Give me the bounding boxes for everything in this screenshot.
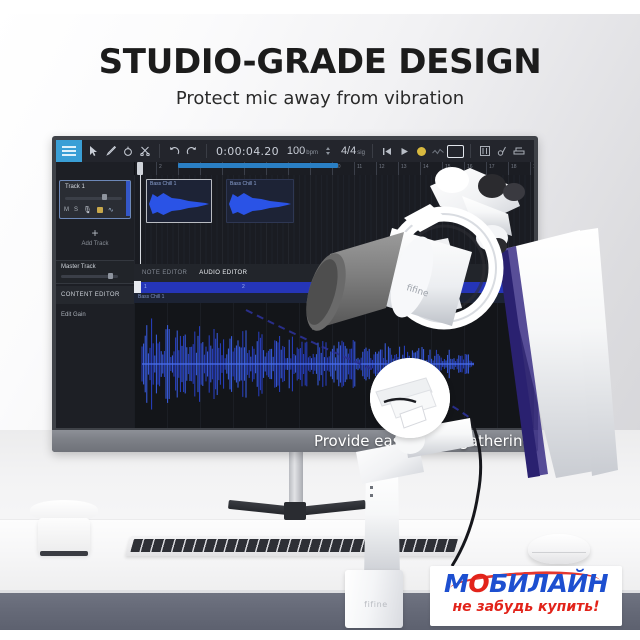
logo-prefix: М bbox=[444, 569, 468, 598]
editor-tabs: NOTE EDITOR AUDIO EDITOR bbox=[134, 264, 534, 282]
edit-gain-item[interactable]: Edit Gain bbox=[61, 312, 86, 318]
cable-clip-graphic bbox=[370, 358, 450, 438]
track-buttons: M S 🎙 ∿ bbox=[64, 206, 114, 214]
scissors-tool-icon[interactable] bbox=[136, 140, 153, 162]
export-icon[interactable] bbox=[511, 140, 528, 162]
ruler-number: 13 bbox=[401, 164, 407, 170]
playhead-handle[interactable] bbox=[137, 162, 143, 175]
ruler-number: 17 bbox=[489, 164, 495, 170]
master-volume-knob[interactable] bbox=[108, 273, 113, 279]
history-group bbox=[163, 140, 203, 162]
undo-icon[interactable] bbox=[166, 140, 183, 162]
track-panel: Track 1 M S 🎙 ∿ + Add Track bbox=[56, 162, 135, 428]
transport-group bbox=[376, 140, 467, 162]
logo-wordmark: МОБИЛАЙН bbox=[430, 570, 622, 598]
audio-clip[interactable]: Bass Chill 1 bbox=[146, 179, 212, 223]
time-signature-unit: sig bbox=[357, 150, 365, 156]
ruler-number: 16 bbox=[467, 164, 473, 170]
keyboard-keys[interactable] bbox=[130, 539, 458, 552]
arrangement-area[interactable]: Bass Chill 1Bass Chill 1 bbox=[134, 175, 534, 264]
audio-clip-title: Bass Chill 1 bbox=[150, 181, 176, 187]
track-volume-slider[interactable] bbox=[65, 197, 122, 200]
toolbar-divider bbox=[206, 144, 207, 158]
editor-timeline-mark: 3.1 bbox=[340, 284, 347, 290]
tempo-unit: bpm bbox=[306, 150, 318, 156]
metronome-icon[interactable] bbox=[430, 140, 447, 162]
audio-editor-waveform[interactable] bbox=[134, 303, 534, 428]
watermark-logo: МОБИЛАЙН не забудь купить! bbox=[430, 566, 622, 626]
desk-clamp bbox=[345, 570, 403, 628]
time-signature-value: 4/4 bbox=[341, 145, 356, 157]
ruler-number: 12 bbox=[379, 164, 385, 170]
logo-tagline: не забудь купить! bbox=[430, 599, 622, 615]
tab-audio-editor[interactable]: AUDIO EDITOR bbox=[199, 270, 247, 276]
ruler-number: 11 bbox=[357, 164, 362, 170]
loop-region-bar[interactable] bbox=[178, 163, 338, 168]
content-editor-header[interactable]: CONTENT EDITOR bbox=[56, 286, 134, 304]
mixer-icon[interactable] bbox=[477, 140, 494, 162]
master-track-row[interactable]: Master Track bbox=[56, 260, 134, 284]
tempo-value: 100 bbox=[287, 145, 305, 157]
clamp-brand-label: fifine bbox=[352, 600, 400, 609]
tempo-stepper-icon[interactable] bbox=[320, 140, 337, 162]
hamburger-menu-icon[interactable] bbox=[56, 140, 82, 162]
solo-button[interactable]: S bbox=[74, 207, 78, 213]
editor-timeline-mark: 4.1 bbox=[438, 284, 445, 290]
record-icon[interactable] bbox=[413, 140, 430, 162]
cable-clip-detail-inset bbox=[370, 358, 450, 438]
editor-timeline-mark: 1 bbox=[144, 284, 147, 290]
track-volume-knob[interactable] bbox=[102, 194, 107, 200]
automation-icon[interactable]: ∿ bbox=[108, 206, 114, 214]
redo-icon[interactable] bbox=[183, 140, 200, 162]
right-tool-group bbox=[474, 140, 531, 162]
pencil-tool-icon[interactable] bbox=[102, 140, 119, 162]
add-track-label: Add Track bbox=[56, 241, 134, 247]
transport-time-display[interactable]: 0:00:04.20 bbox=[210, 145, 285, 158]
tab-note-editor[interactable]: NOTE EDITOR bbox=[142, 270, 187, 276]
loop-tool-icon[interactable] bbox=[119, 140, 136, 162]
waveform-graphic bbox=[134, 309, 534, 419]
rewind-to-start-icon[interactable] bbox=[379, 140, 396, 162]
headline: STUDIO-GRADE DESIGN bbox=[0, 42, 640, 82]
mute-button[interactable]: M bbox=[64, 207, 69, 213]
content-editor-label: CONTENT EDITOR bbox=[56, 292, 120, 298]
timeline-ruler[interactable]: 12345678910111213141516171819202122 bbox=[134, 162, 534, 176]
clip-waveform bbox=[149, 190, 209, 218]
track-selected-indicator bbox=[126, 181, 130, 216]
ruler-number: 19 bbox=[533, 164, 534, 170]
computer-mouse[interactable] bbox=[528, 534, 590, 564]
monitor-bottom-bezel bbox=[52, 430, 538, 452]
frame-edge-top bbox=[0, 0, 640, 14]
audio-clip-title: Bass Chill 1 bbox=[230, 181, 256, 187]
monitor: 0:00:04.20 100bpm 4/4sig bbox=[52, 136, 538, 452]
logo-suffix: БИЛАЙН bbox=[489, 569, 608, 598]
audio-clip[interactable]: Bass Chill 1 bbox=[226, 179, 294, 223]
ruler-number: 18 bbox=[511, 164, 517, 170]
toolbar-divider bbox=[372, 144, 373, 158]
clip-waveform bbox=[229, 190, 291, 218]
keyboard[interactable] bbox=[125, 536, 463, 556]
ruler-number: 15 bbox=[445, 164, 451, 170]
tool-group bbox=[82, 140, 156, 162]
play-icon[interactable] bbox=[396, 140, 413, 162]
subheadline: Protect mic away from vibration bbox=[0, 88, 640, 109]
monitor-stand-hub bbox=[284, 502, 306, 520]
mouse-seam bbox=[532, 552, 586, 553]
instrument-pad-icon[interactable] bbox=[97, 207, 103, 213]
frame-edge-bottom bbox=[0, 630, 640, 640]
track-row[interactable]: Track 1 M S 🎙 ∿ bbox=[59, 180, 131, 219]
pointer-tool-icon[interactable] bbox=[85, 140, 102, 162]
track-name: Track 1 bbox=[65, 184, 85, 190]
editor-timeline-strip[interactable]: 123.14.1 bbox=[134, 282, 534, 293]
logo-accent-letter: О bbox=[468, 569, 489, 598]
promo-image: STUDIO-GRADE DESIGN Protect mic away fro… bbox=[0, 0, 640, 640]
daw-toolbar: 0:00:04.20 100bpm 4/4sig bbox=[56, 140, 534, 163]
instrument-icon[interactable] bbox=[494, 140, 511, 162]
editor-clip-title: Bass Chill 1 bbox=[138, 294, 164, 300]
desk-speaker bbox=[38, 518, 90, 554]
playhead[interactable] bbox=[140, 175, 141, 264]
ruler-number: 2 bbox=[159, 164, 162, 170]
desk-speaker-base bbox=[40, 551, 88, 556]
ruler-number: 14 bbox=[423, 164, 429, 170]
plus-icon: + bbox=[56, 226, 134, 240]
time-signature-display[interactable]: 4/4sig bbox=[337, 145, 369, 157]
master-track-label: Master Track bbox=[61, 264, 96, 270]
tempo-display[interactable]: 100bpm bbox=[285, 145, 320, 157]
microphone-icon[interactable]: 🎙 bbox=[83, 206, 92, 214]
toolbar-divider bbox=[470, 144, 471, 158]
toolbar-divider bbox=[159, 144, 160, 158]
add-track-button[interactable]: + Add Track bbox=[56, 226, 134, 247]
editor-timeline-mark: 2 bbox=[242, 284, 245, 290]
loop-toggle-icon[interactable] bbox=[447, 140, 464, 162]
monitor-screen: 0:00:04.20 100bpm 4/4sig bbox=[56, 140, 534, 428]
